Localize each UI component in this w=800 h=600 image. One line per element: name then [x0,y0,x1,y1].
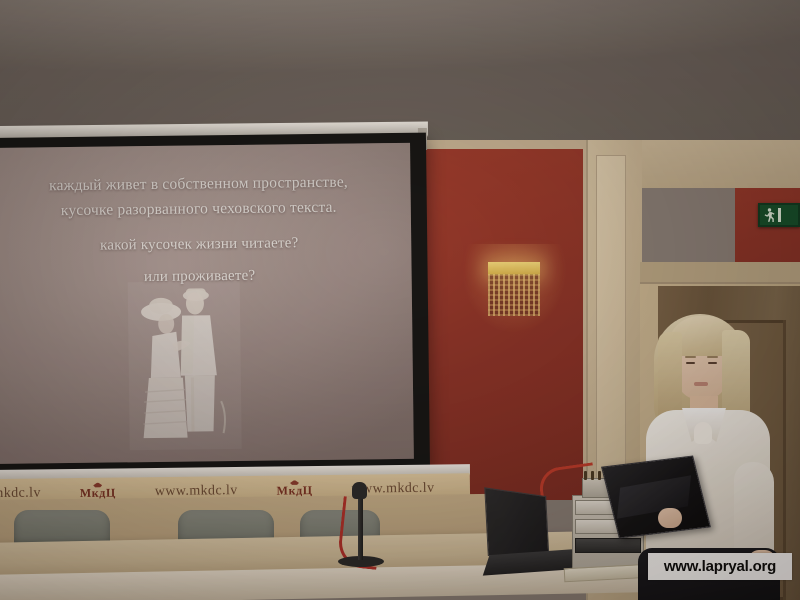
wall-trim-top [410,140,590,149]
slide-photo-couple [128,281,242,450]
presenter-neck-bow [694,422,712,444]
crest-icon [93,482,102,487]
wall-beige-upper-right [640,140,800,188]
presenter-eye-right [708,362,717,364]
slide-line-3: какой кусочек жизни читаете? [0,230,411,259]
ceiling-shading [0,0,800,140]
exit-direction-bar [778,208,781,222]
photo-scene: каждый живет в собственном пространстве,… [0,0,800,600]
slide-photo-backdrop [128,281,242,450]
presenter-eye-left [686,362,695,364]
mixer-knob[interactable] [598,471,601,480]
door-header-trim [640,262,800,284]
running-man-icon [764,208,775,223]
mixer-knob[interactable] [584,471,587,480]
projection-screen-surface: каждый живет в собственном пространстве,… [0,143,414,464]
wall-sconce-beads [488,274,540,316]
watermark-badge: www.lapryal.org [648,553,792,580]
presenter-eyebrow-right [707,356,718,358]
slide-text-block: каждый живет в собственном пространстве,… [0,169,412,291]
banner-logo-text-1: МкдЦ [80,486,116,498]
watermark-text: www.lapryal.org [664,558,776,575]
crest-icon [290,480,299,485]
emergency-exit-sign [758,203,800,227]
mixer-knob[interactable] [591,471,594,480]
presenter-hand-left [658,508,682,528]
wall-panel-red-left [410,148,590,500]
microphone-head[interactable] [352,482,367,499]
slide-line-2: кусочке разорванного чеховского текста. [0,194,411,224]
banner-logo-text-3: МкдЦ [277,484,313,496]
presenter-eyebrow-left [685,356,696,358]
presenter-lips [694,382,708,386]
microphone-stem [358,492,363,560]
projection-screen-frame: каждый живет в собственном пространстве,… [0,133,430,478]
